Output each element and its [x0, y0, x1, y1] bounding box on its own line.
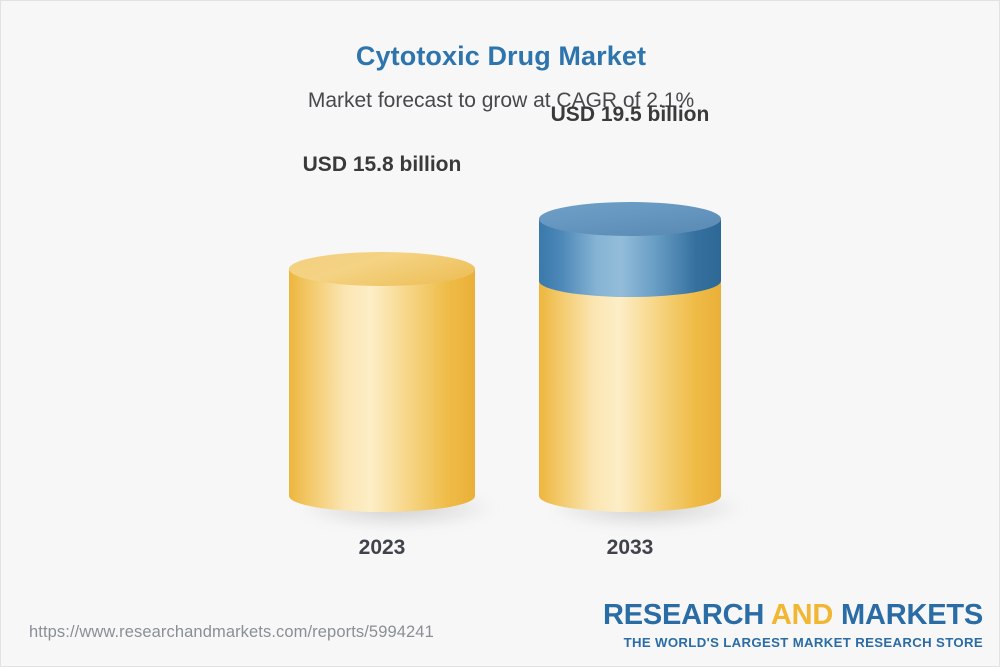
chart-canvas: Cytotoxic Drug Market Market forecast to…: [0, 0, 1000, 667]
bar-group-2033: USD 19.5 billion 2033: [539, 191, 721, 531]
brand-wordmark: RESEARCH AND MARKETS: [603, 601, 983, 630]
category-label-2023: 2023: [279, 536, 485, 560]
data-label-2023: USD 15.8 billion: [279, 153, 485, 177]
plot-area: USD 15.8 billion 2023: [1, 1, 1000, 601]
brand-word-research: RESEARCH: [603, 599, 771, 631]
brand-word-and: AND: [771, 599, 833, 631]
brand-word-markets: MARKETS: [833, 599, 983, 631]
bar-group-2023: USD 15.8 billion 2023: [289, 191, 475, 531]
brand-tagline: THE WORLD'S LARGEST MARKET RESEARCH STOR…: [603, 636, 983, 649]
cylinder-2023: [289, 191, 475, 531]
cylinder-2033: [539, 191, 721, 531]
data-label-2033: USD 19.5 billion: [527, 103, 733, 127]
source-url[interactable]: https://www.researchandmarkets.com/repor…: [29, 623, 434, 642]
brand-logo[interactable]: RESEARCH AND MARKETS THE WORLD'S LARGEST…: [603, 601, 983, 649]
category-label-2033: 2033: [527, 536, 733, 560]
